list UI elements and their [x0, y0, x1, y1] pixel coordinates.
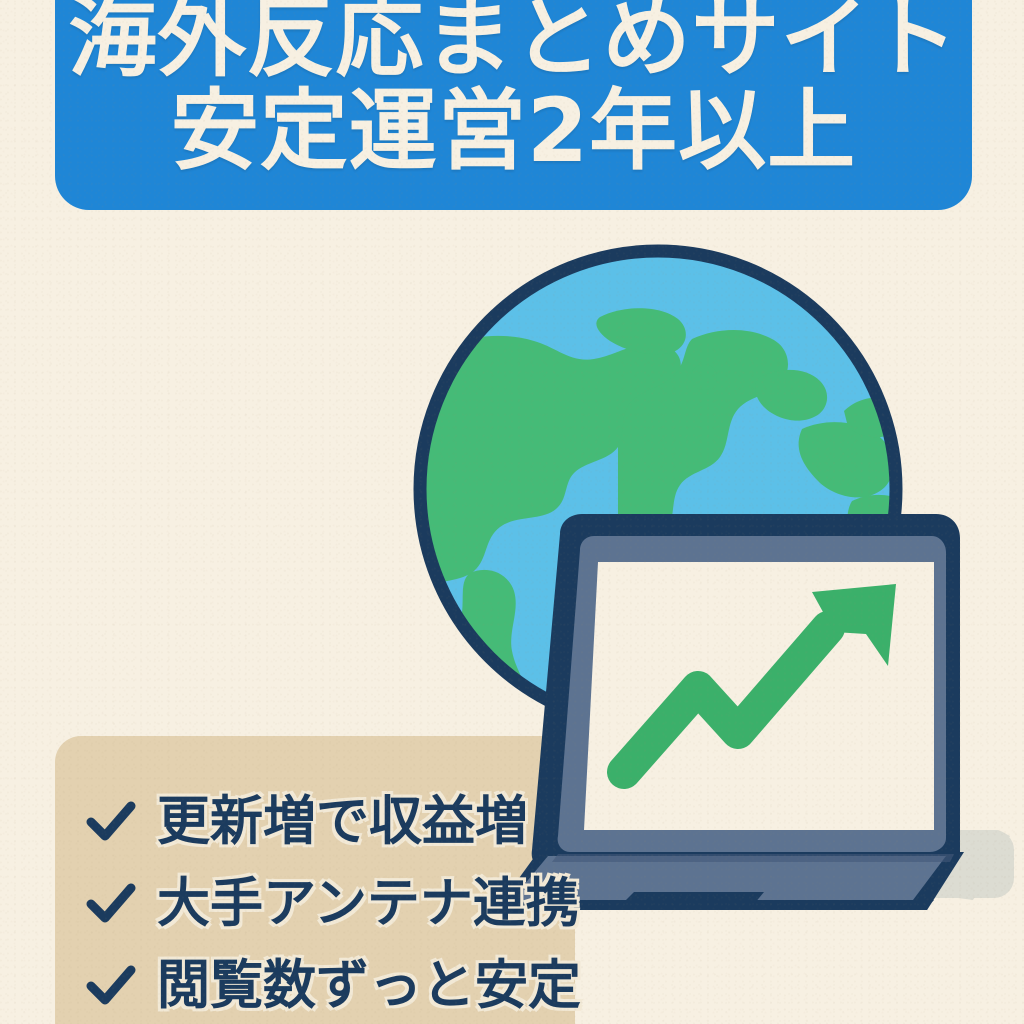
feature-label: 更新増で収益増 [157, 795, 528, 848]
page-title-line-2: 安定運営2年以上 [55, 86, 972, 176]
check-icon [85, 795, 137, 847]
feature-label: 大手アンテナ連携 [157, 877, 579, 930]
list-item: 更新増で収益増 [85, 780, 615, 862]
list-item: 大手アンテナ連携 [85, 862, 615, 944]
page-title-line-1: 海外反応まとめサイト [55, 0, 972, 82]
poster-canvas: 海外反応まとめサイト 安定運営2年以上 [0, 0, 1024, 1024]
check-icon [85, 877, 137, 929]
list-item: 閲覧数ずっと安定 [85, 944, 615, 1024]
feature-label: 閲覧数ずっと安定 [157, 959, 581, 1012]
header-banner-text: 海外反応まとめサイト 安定運営2年以上 [55, 0, 972, 176]
feature-list: 更新増で収益増 大手アンテナ連携 閲覧数ずっと安定 [55, 736, 615, 1024]
header-banner: 海外反応まとめサイト 安定運営2年以上 [55, 0, 972, 210]
check-icon [85, 959, 137, 1011]
